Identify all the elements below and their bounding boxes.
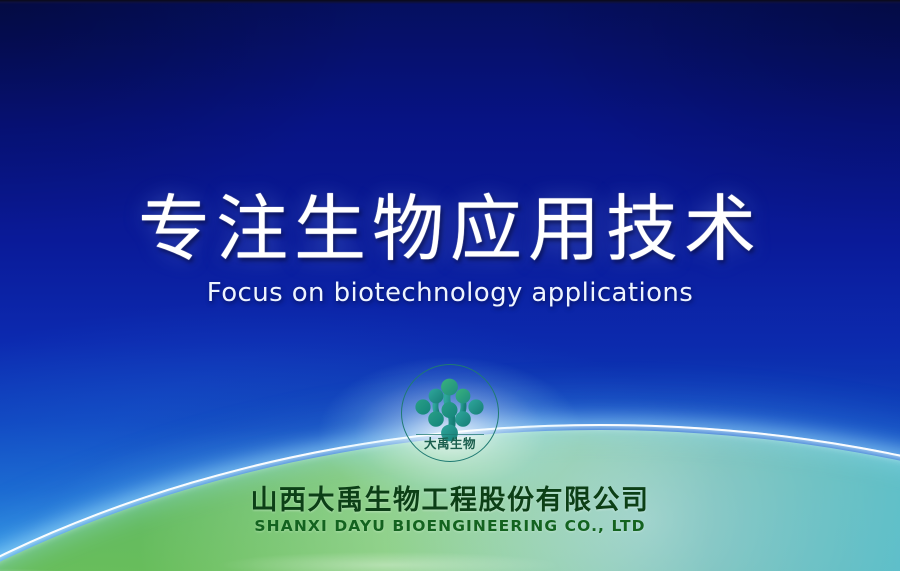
company-name-chinese: 山西大禹生物工程股份有限公司 xyxy=(0,486,900,516)
headline-block: 专注生物应用技术 Focus on biotechnology applicat… xyxy=(0,186,900,308)
headline-chinese: 专注生物应用技术 xyxy=(0,186,900,272)
top-edge-strip xyxy=(0,0,900,4)
logo-block: 大禹生物 xyxy=(0,364,900,462)
company-name-block: 山西大禹生物工程股份有限公司 SHANXI DAYU BIOENGINEERIN… xyxy=(0,486,900,535)
headline-english: Focus on biotechnology applications xyxy=(0,278,900,308)
banner-image: 专注生物应用技术 Focus on biotechnology applicat… xyxy=(0,0,900,571)
logo-brand-text: 大禹生物 xyxy=(402,433,498,452)
molecule-circles-logo: 大禹生物 xyxy=(401,364,499,462)
company-name-english: SHANXI DAYU BIOENGINEERING CO., LTD xyxy=(0,517,900,535)
